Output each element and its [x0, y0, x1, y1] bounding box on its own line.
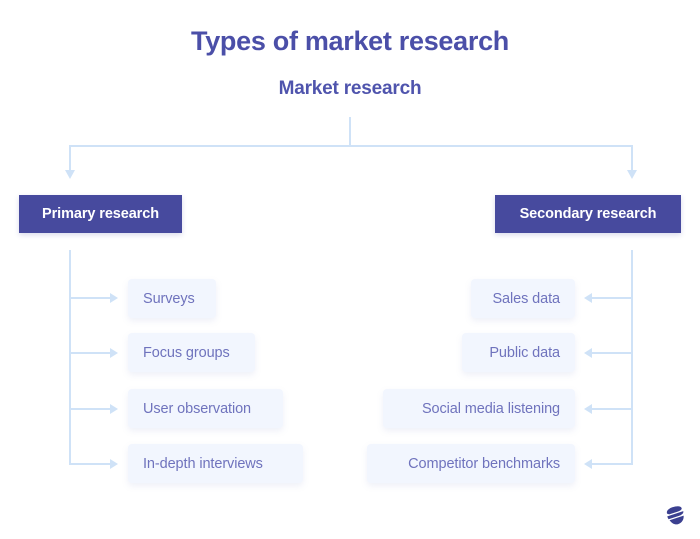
arrowhead-primary-3	[110, 404, 118, 414]
diagram-canvas: Types of market research Market research…	[0, 0, 700, 539]
arrowhead-secondary-1	[584, 293, 592, 303]
branch-label: Secondary research	[520, 206, 657, 222]
arrowhead-secondary	[627, 170, 637, 179]
leaf-node-sales-data[interactable]: Sales data	[471, 279, 575, 318]
connector-branch-primary-3	[69, 408, 111, 410]
leaf-label: User observation	[143, 401, 251, 417]
branch-label: Primary research	[42, 206, 159, 222]
arrowhead-primary-2	[110, 348, 118, 358]
leaf-label: Sales data	[492, 291, 560, 307]
arrowhead-primary-1	[110, 293, 118, 303]
connector-drop-primary	[69, 145, 71, 171]
leaf-node-in-depth-interviews[interactable]: In-depth interviews	[128, 444, 303, 483]
connector-branch-primary-1	[69, 297, 111, 299]
connector-drop-secondary	[631, 145, 633, 171]
connector-spine-secondary	[631, 250, 633, 465]
leaf-node-public-data[interactable]: Public data	[462, 333, 575, 372]
leaf-node-focus-groups[interactable]: Focus groups	[128, 333, 255, 372]
leaf-label: Public data	[489, 345, 560, 361]
leaf-node-competitor-benchmarks[interactable]: Competitor benchmarks	[367, 444, 575, 483]
connector-root-trunk	[349, 117, 351, 146]
leaf-label: In-depth interviews	[143, 456, 263, 472]
leaf-label: Surveys	[143, 291, 195, 307]
arrowhead-primary	[65, 170, 75, 179]
branch-node-primary-research[interactable]: Primary research	[19, 195, 182, 233]
connector-branch-secondary-4	[591, 463, 633, 465]
arrowhead-primary-4	[110, 459, 118, 469]
arrowhead-secondary-3	[584, 404, 592, 414]
arrowhead-secondary-4	[584, 459, 592, 469]
brand-logo-icon	[663, 503, 689, 529]
leaf-label: Competitor benchmarks	[408, 456, 560, 472]
connector-spine-primary	[69, 250, 71, 465]
branch-node-secondary-research[interactable]: Secondary research	[495, 195, 681, 233]
leaf-node-user-observation[interactable]: User observation	[128, 389, 283, 428]
connector-branch-secondary-2	[591, 352, 633, 354]
arrowhead-secondary-2	[584, 348, 592, 358]
leaf-label: Focus groups	[143, 345, 230, 361]
leaf-node-surveys[interactable]: Surveys	[128, 279, 216, 318]
leaf-node-social-media-listening[interactable]: Social media listening	[383, 389, 575, 428]
leaf-label: Social media listening	[422, 401, 560, 417]
connector-split-horizontal	[69, 145, 633, 147]
connector-branch-primary-2	[69, 352, 111, 354]
connector-branch-secondary-3	[591, 408, 633, 410]
connector-branch-primary-4	[69, 463, 111, 465]
page-title: Types of market research	[0, 26, 700, 57]
root-node-label: Market research	[0, 78, 700, 100]
connector-branch-secondary-1	[591, 297, 633, 299]
